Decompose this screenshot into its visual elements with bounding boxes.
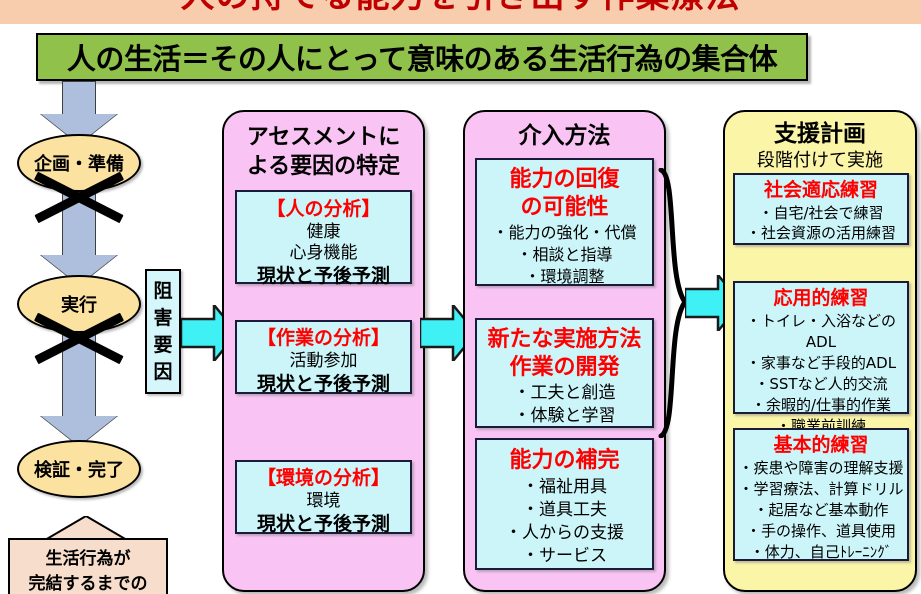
intervention-box-2-line-3: ・サービス bbox=[477, 545, 652, 568]
diagram-canvas: 人の持てる能力を引き出す作業療法 人の生活＝その人にとって意味のある生活行為の集… bbox=[0, 0, 921, 594]
intervention-box-2-line-2: ・人からの支援 bbox=[477, 522, 652, 545]
obstruction-label-char: 阻 bbox=[153, 278, 172, 305]
intervention-box-1[interactable]: 新たな実施方法 作業の開発 ・工夫と創造 ・体験と学習 bbox=[475, 318, 654, 428]
blocked-x-icon-1 bbox=[31, 334, 127, 394]
flow-step-0[interactable]: 企画・準備 bbox=[17, 134, 141, 192]
assessment-box-1[interactable]: 【作業の分析】 活動参加 現状と予後予測 bbox=[235, 320, 412, 394]
support-box-0[interactable]: 社会適応練習 ・自宅/社会で練習 ・社会資源の活用練習 bbox=[733, 173, 909, 245]
intervention-box-2-head: 能力の補完 bbox=[477, 446, 652, 476]
assessment-box-2-line-0: 環境 bbox=[237, 491, 410, 512]
assessment-box-0-strong: 現状と予後予測 bbox=[237, 264, 410, 288]
title-banner: 人の持てる能力を引き出す作業療法 bbox=[0, 0, 921, 24]
support-box-2-head: 基本的練習 bbox=[735, 433, 907, 458]
support-box-1-line-3: ・余暇的/仕事的作業 bbox=[735, 395, 907, 416]
support-box-2-line-2: ・起居など基本動作 bbox=[735, 500, 907, 521]
support-box-0-head: 社会適応練習 bbox=[735, 178, 907, 203]
assessment-box-0-head: 【人の分析】 bbox=[237, 197, 410, 222]
support-box-1-line-0: ・トイレ・入浴などのADL bbox=[735, 311, 907, 353]
obstruction-label-char: 害 bbox=[153, 305, 172, 332]
support-box-0-line-0: ・自宅/社会で練習 bbox=[735, 203, 907, 223]
intervention-box-0[interactable]: 能力の回復 の可能性 ・能力の強化・代償 ・相談と指導 ・環境調整 bbox=[475, 158, 654, 286]
assessment-box-1-line-0: 活動参加 bbox=[237, 351, 410, 372]
support-box-1[interactable]: 応用的練習 ・トイレ・入浴などのADL ・家事など手段的ADL ・SSTなど人的… bbox=[733, 281, 909, 414]
definition-banner: 人の生活＝その人にとって意味のある生活行為の集合体 bbox=[36, 33, 808, 81]
intervention-box-0-line-1: ・相談と指導 bbox=[477, 244, 652, 266]
support-box-0-line-1: ・社会資源の活用練習 bbox=[735, 223, 907, 243]
intervention-box-2[interactable]: 能力の補完 ・福祉用具 ・道具工夫 ・人からの支援 ・サービス bbox=[475, 438, 654, 570]
flow-arrow-shaft-0 bbox=[62, 81, 96, 115]
obstruction-label-char: 因 bbox=[153, 359, 172, 386]
intervention-box-1-line-1: ・体験と学習 bbox=[477, 405, 652, 428]
support-box-2[interactable]: 基本的練習 ・疾患や障害の理解支援 ・学習療法、計算ドリル ・起居など基本動作 … bbox=[733, 428, 909, 561]
intervention-box-0-line-2: ・環境調整 bbox=[477, 266, 652, 288]
flow-step-label-2: 検証・完了 bbox=[34, 456, 124, 482]
assessment-box-2-head: 【環境の分析】 bbox=[237, 466, 410, 491]
flow-step-2[interactable]: 検証・完了 bbox=[17, 440, 141, 498]
intervention-box-2-line-0: ・福祉用具 bbox=[477, 476, 652, 499]
panel-assessment-title: アセスメントに よる要因の特定 bbox=[224, 112, 423, 181]
intervention-box-0-line-0: ・能力の強化・代償 bbox=[477, 222, 652, 244]
intervention-box-1-head: 新たな実施方法 作業の開発 bbox=[477, 326, 652, 382]
assessment-box-2[interactable]: 【環境の分析】 環境 現状と予後予測 bbox=[235, 460, 412, 534]
assessment-box-0-line-1: 心身機能 bbox=[237, 243, 410, 264]
bottom-note: 生活行為が 完結するまでの 流れ bbox=[8, 538, 168, 594]
panel-support-plan-title: 支援計画 bbox=[725, 112, 915, 149]
obstruction-label: 阻害要因 bbox=[145, 269, 181, 394]
blocked-x-icon-0 bbox=[31, 193, 127, 253]
panel-intervention-title: 介入方法 bbox=[465, 112, 664, 151]
support-box-2-line-3: ・手の操作、道具使用 bbox=[735, 521, 907, 542]
page-title: 人の持てる能力を引き出す作業療法 bbox=[0, 0, 921, 16]
assessment-box-2-strong: 現状と予後予測 bbox=[237, 512, 410, 536]
assessment-box-1-strong: 現状と予後予測 bbox=[237, 372, 410, 396]
support-box-2-line-4: ・体力、自己ﾄﾚｰﾆﾝｸﾞ bbox=[735, 542, 907, 563]
panel-support-plan-subtitle: 段階付けて実施 bbox=[725, 149, 915, 173]
intervention-box-1-line-0: ・工夫と創造 bbox=[477, 382, 652, 405]
support-box-1-line-2: ・SSTなど人的交流 bbox=[735, 374, 907, 395]
flow-step-label-1: 実行 bbox=[61, 291, 97, 317]
support-box-2-line-0: ・疾患や障害の理解支援 bbox=[735, 458, 907, 479]
assessment-box-0[interactable]: 【人の分析】 健康 心身機能 現状と予後予測 bbox=[235, 190, 412, 284]
flow-step-label-0: 企画・準備 bbox=[34, 150, 124, 176]
obstruction-label-text: 阻害要因 bbox=[153, 278, 172, 386]
definition-banner-text: 人の生活＝その人にとって意味のある生活行為の集合体 bbox=[67, 36, 777, 78]
assessment-box-0-line-0: 健康 bbox=[237, 222, 410, 243]
intervention-box-0-head: 能力の回復 の可能性 bbox=[477, 166, 652, 222]
obstruction-label-char: 要 bbox=[153, 332, 172, 359]
assessment-box-1-head: 【作業の分析】 bbox=[237, 326, 410, 351]
support-box-1-line-1: ・家事など手段的ADL bbox=[735, 353, 907, 374]
support-box-1-head: 応用的練習 bbox=[735, 286, 907, 311]
bottom-note-text: 生活行為が 完結するまでの 流れ bbox=[29, 549, 148, 594]
bottom-note-arrow bbox=[45, 516, 127, 540]
support-box-2-line-1: ・学習療法、計算ドリル bbox=[735, 479, 907, 500]
flow-step-1[interactable]: 実行 bbox=[17, 275, 141, 333]
intervention-box-2-line-1: ・道具工夫 bbox=[477, 499, 652, 522]
